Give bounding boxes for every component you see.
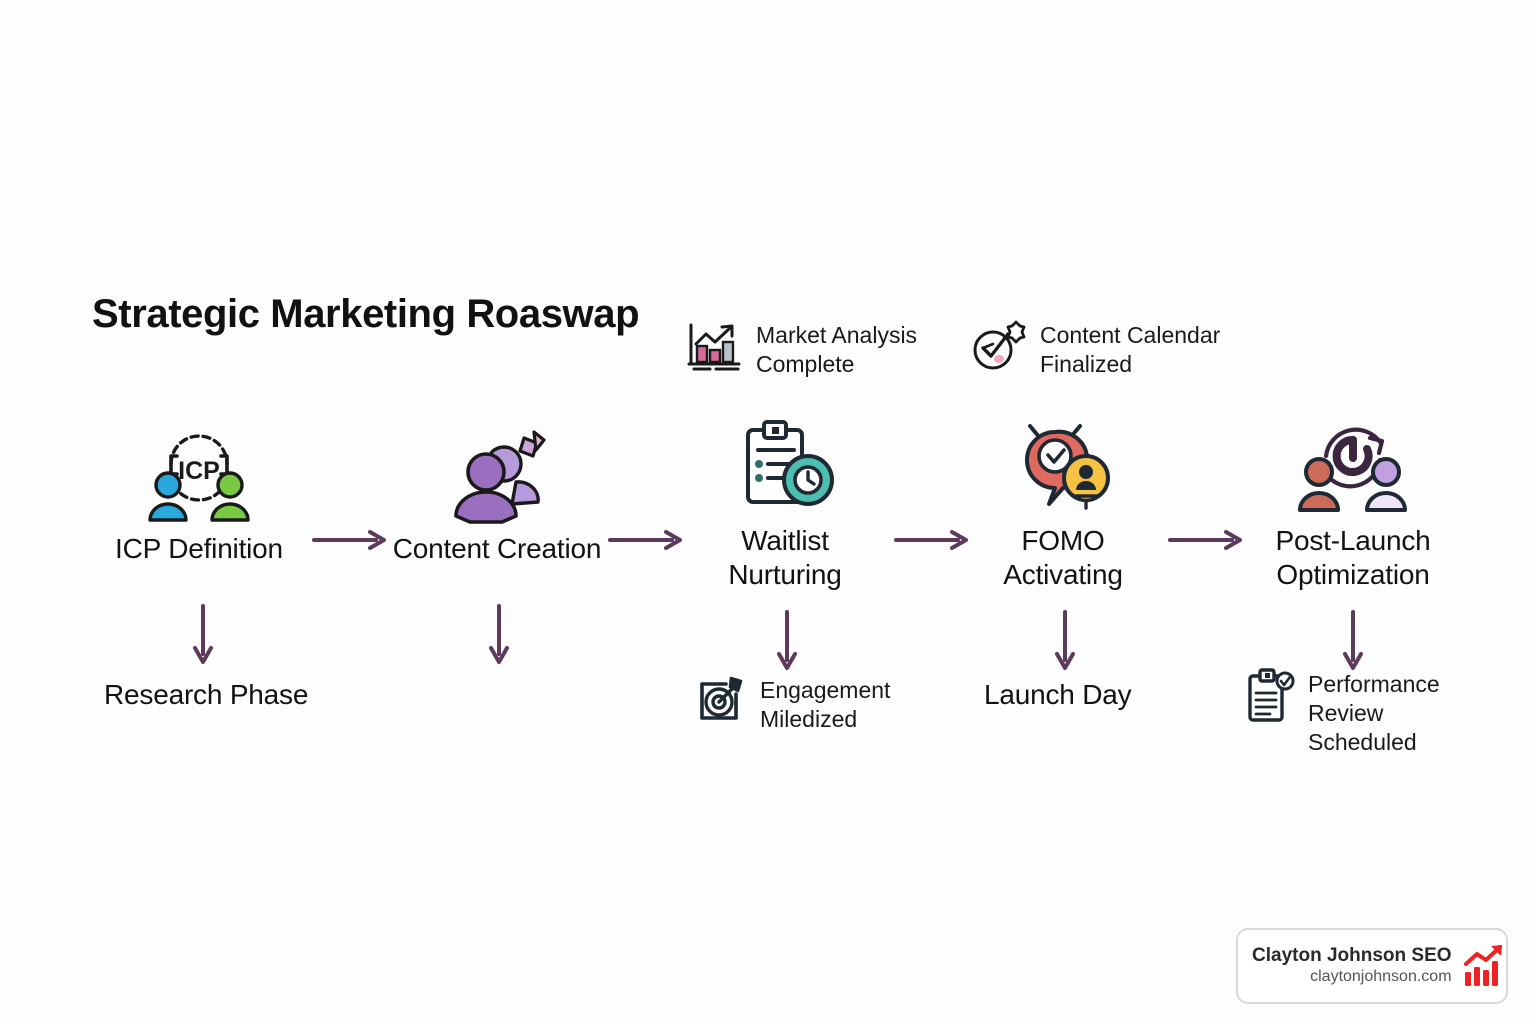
step-label: Content Creation bbox=[372, 532, 622, 566]
step-waitlist-nurturing[interactable]: Waitlist Nurturing bbox=[660, 420, 910, 591]
outcome-performance-review: Performance Review Scheduled bbox=[1246, 668, 1440, 756]
arrow-right-icon bbox=[1168, 528, 1246, 552]
outcome-engagement-miledized: Engagement Miledized bbox=[698, 674, 890, 734]
arrow-down-icon bbox=[486, 604, 512, 666]
step-post-launch-optimization[interactable]: Post-Launch Optimization bbox=[1228, 420, 1478, 591]
step-label: Post-Launch Optimization bbox=[1228, 524, 1478, 591]
clipboard-clock-icon bbox=[660, 420, 910, 516]
step-label: FOMO Activating bbox=[938, 524, 1188, 591]
arrow-right-icon bbox=[312, 528, 390, 552]
diagram-canvas: Strategic Marketing Roaswap Market Analy… bbox=[0, 0, 1536, 1024]
arrow-right-icon bbox=[894, 528, 972, 552]
svg-text:ICP: ICP bbox=[178, 457, 220, 485]
outcome-research-phase: Research Phase bbox=[104, 678, 308, 712]
step-icp-definition[interactable]: ICP ICP Definition bbox=[74, 428, 324, 566]
milestone-market-analysis: Market Analysis Complete bbox=[686, 320, 917, 380]
brand-url: claytonjohnson.com bbox=[1252, 967, 1452, 988]
step-fomo-activating[interactable]: FOMO Activating bbox=[938, 420, 1188, 591]
arrow-down-icon bbox=[190, 604, 216, 666]
content-people-icon bbox=[372, 428, 622, 524]
arrow-right-icon bbox=[608, 528, 686, 552]
brand-badge[interactable]: Clayton Johnson SEO claytonjohnson.com bbox=[1236, 928, 1508, 1004]
people-refresh-icon bbox=[1228, 420, 1478, 516]
milestone-label: Market Analysis Complete bbox=[756, 320, 917, 380]
step-content-creation[interactable]: Content Creation bbox=[372, 428, 622, 566]
outcome-label: Launch Day bbox=[984, 678, 1131, 712]
step-label: Waitlist Nurturing bbox=[660, 524, 910, 591]
milestone-label: Content Calendar Finalized bbox=[1040, 320, 1220, 380]
target-dart-icon bbox=[698, 674, 748, 724]
step-label: ICP Definition bbox=[74, 532, 324, 566]
icp-people-icon: ICP bbox=[74, 428, 324, 524]
outcome-label: Engagement Miledized bbox=[760, 674, 890, 734]
outcome-label: Performance Review Scheduled bbox=[1308, 668, 1440, 756]
arrow-down-icon bbox=[1052, 610, 1078, 672]
document-review-icon bbox=[1246, 668, 1296, 718]
palette-calendar-check-icon bbox=[970, 320, 1026, 372]
brand-text: Clayton Johnson SEO claytonjohnson.com bbox=[1252, 944, 1452, 989]
arrow-down-icon bbox=[774, 610, 800, 672]
outcome-launch-day: Launch Day bbox=[984, 678, 1131, 712]
speech-bubble-bell-icon bbox=[938, 420, 1188, 516]
arrow-down-icon bbox=[1340, 610, 1366, 672]
page-title: Strategic Marketing Roaswap bbox=[92, 292, 639, 337]
brand-name: Clayton Johnson SEO bbox=[1252, 944, 1452, 968]
outcome-label: Research Phase bbox=[104, 678, 308, 712]
bar-chart-trend-icon bbox=[686, 320, 742, 372]
red-growth-chart-icon bbox=[1462, 944, 1506, 988]
milestone-content-calendar: Content Calendar Finalized bbox=[970, 320, 1220, 380]
